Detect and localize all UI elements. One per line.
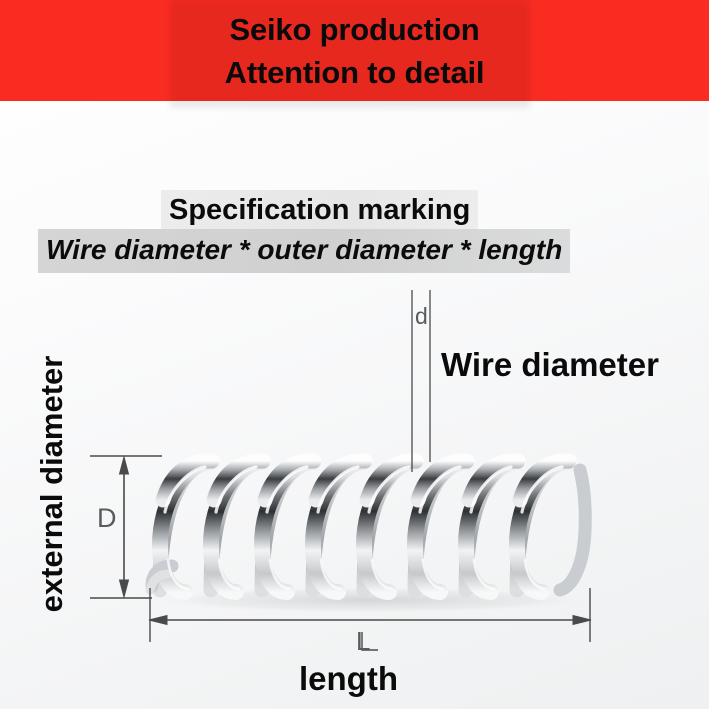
- banner-headline-primary: Seiko production: [230, 8, 480, 51]
- l-arrow-left: [149, 616, 167, 625]
- l-arrow-right: [573, 616, 591, 625]
- d-arrow-up: [120, 457, 129, 474]
- external-diameter-label: external diameter: [34, 319, 70, 649]
- wire-diameter-symbol: d: [415, 303, 428, 330]
- wire-diameter-label: Wire diameter: [441, 346, 659, 384]
- banner-headline-secondary: Attention to detail: [225, 51, 485, 94]
- spring-coils: [150, 461, 585, 592]
- product-infographic: Seiko production Attention to detail Spe…: [0, 0, 709, 709]
- length-symbol: L: [356, 626, 370, 657]
- d-arrow-down: [120, 580, 129, 597]
- outer-diameter-symbol: D: [97, 503, 117, 534]
- length-label: length: [0, 660, 709, 698]
